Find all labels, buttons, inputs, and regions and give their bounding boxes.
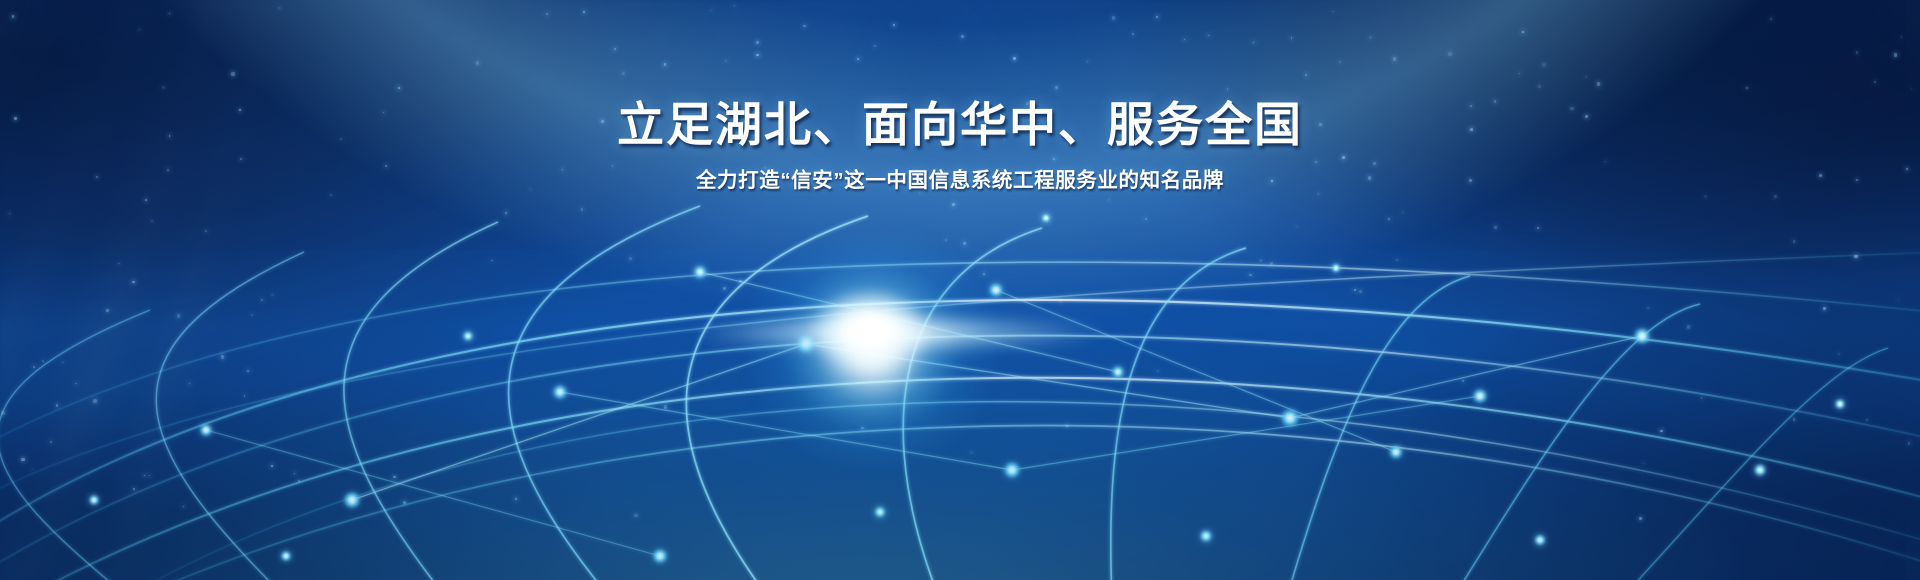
hero-banner: 立足湖北、面向华中、服务全国 全力打造“信安”这一中国信息系统工程服务业的知名品… [0, 0, 1920, 580]
banner-headline: 立足湖北、面向华中、服务全国 [0, 96, 1920, 153]
banner-subheadline: 全力打造“信安”这一中国信息系统工程服务业的知名品牌 [0, 167, 1920, 195]
core-light-burst-hot [806, 288, 932, 374]
banner-copy: 立足湖北、面向华中、服务全国 全力打造“信安”这一中国信息系统工程服务业的知名品… [0, 96, 1920, 195]
